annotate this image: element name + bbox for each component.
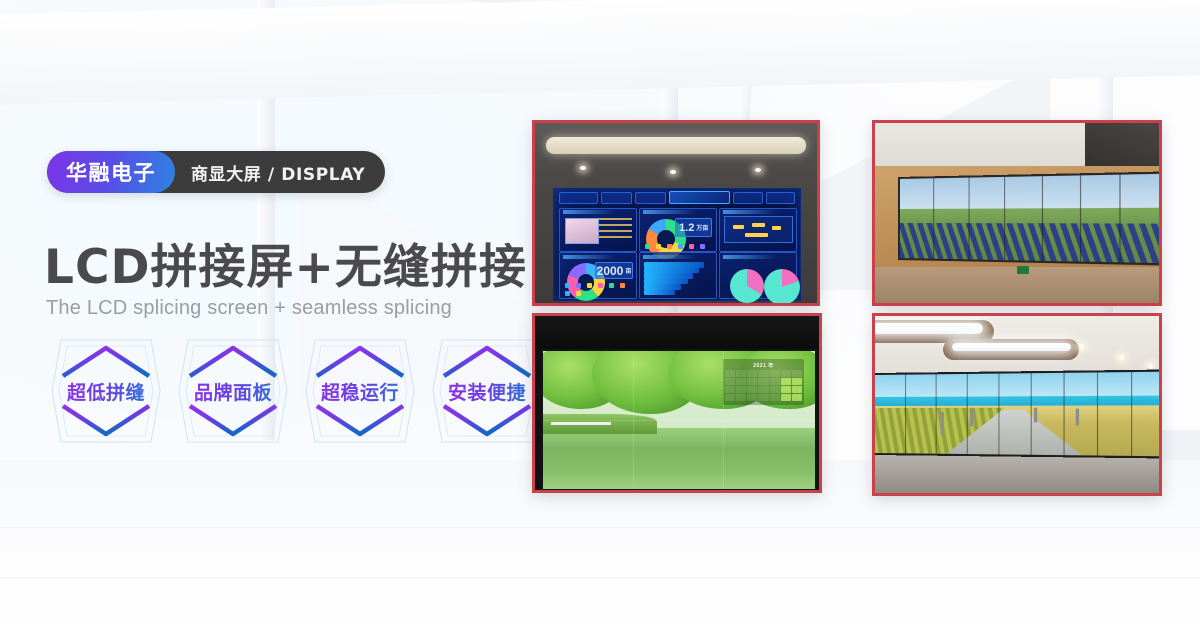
kpi-unit: 万亩 [696, 223, 708, 232]
sky [875, 371, 1159, 398]
panel-header [643, 255, 696, 259]
topbar-tab [733, 192, 762, 204]
calendar-widget: 2021 年 [723, 359, 805, 404]
downlight [755, 168, 761, 172]
lcd-video-wall [898, 171, 1159, 265]
downlight [1148, 364, 1153, 369]
photo-corridor-solar-farm-wall [872, 120, 1162, 306]
exit-sign [1017, 266, 1029, 274]
feature-badge: 超低拼缝 [47, 332, 165, 450]
panel-header [723, 210, 776, 214]
floor-line-1 [0, 527, 1200, 528]
white-railing [551, 422, 611, 425]
feature-label: 超低拼缝 [67, 378, 145, 405]
pie-chart [730, 269, 764, 303]
count-unit: 亩 [625, 266, 631, 275]
dashboard-topbar [559, 191, 795, 204]
feature-badge: 品牌面板 [174, 332, 292, 450]
count-number: 2000 [597, 264, 624, 278]
panel-thumbnail [565, 218, 599, 244]
panel-textlines [599, 218, 632, 242]
light-tube [875, 323, 983, 334]
kpi-value: 1.2 万亩 [675, 218, 712, 237]
photo-control-room-dashboard: 1.2 万亩 [532, 120, 820, 306]
panel-header [563, 255, 616, 259]
cove-light [546, 137, 805, 153]
feature-badge: 超稳运行 [301, 332, 419, 450]
dashboard-panel: 2000 亩 [559, 252, 637, 299]
dashboard-panel [719, 252, 797, 299]
light-tube [952, 343, 1071, 352]
product-banner: 华融电子 商显大屏 / DISPLAY LCD拼接屏+无缝拼接 The LCD … [0, 0, 1200, 640]
bar-chart [644, 262, 712, 295]
topbar-tab [766, 192, 795, 204]
brand-pill: 华融电子 商显大屏 / DISPLAY [47, 151, 385, 193]
feature-label: 品牌面板 [194, 378, 272, 405]
kpi-number: 1.2 [679, 222, 694, 234]
feature-list: 超低拼缝 品牌面板 超稳运行 [47, 332, 546, 450]
lcd-video-wall: 2021 年 [541, 349, 818, 490]
ceiling [535, 123, 817, 184]
subheadline: The LCD splicing screen + seamless splic… [46, 297, 452, 320]
feature-label: 超稳运行 [321, 378, 399, 405]
dashboard-panel [639, 252, 717, 299]
topbar-tab [635, 192, 666, 204]
feature-badge: 安装便捷 [428, 332, 546, 450]
panel-header [563, 210, 616, 214]
pie-chart [764, 269, 800, 303]
dashboard-panel: 1.2 万亩 [639, 208, 717, 252]
lcd-video-wall [875, 369, 1159, 458]
panel-header [723, 255, 776, 259]
floor-line-2 [0, 577, 1200, 578]
topbar-tab [601, 192, 632, 204]
dashboard-panel [719, 208, 797, 252]
dashboard-title [669, 191, 730, 203]
topbar-timestamp [559, 192, 597, 204]
chart-legend [645, 244, 712, 249]
dashboard-screen: 1.2 万亩 [553, 188, 800, 302]
brand-name: 华融电子 [47, 151, 175, 193]
calendar-title: 2021 年 [725, 361, 803, 370]
feature-label: 安装便捷 [448, 378, 526, 405]
headline: LCD拼接屏+无缝拼接 [44, 228, 527, 297]
process-flow-diagram [724, 216, 793, 243]
count-value: 2000 亩 [595, 262, 634, 279]
photo-lobby-beach-boardwalk-wall [872, 313, 1162, 496]
pond-water [543, 428, 816, 488]
brand-category: 商显大屏 / DISPLAY [175, 151, 385, 193]
photo-willow-pond-wall: 2021 年 [532, 313, 822, 493]
calendar-grid [725, 370, 803, 401]
panel-header [643, 210, 696, 214]
dashboard-panel [559, 208, 637, 252]
dark-ceiling-band [535, 316, 819, 349]
chart-legend [565, 283, 632, 296]
